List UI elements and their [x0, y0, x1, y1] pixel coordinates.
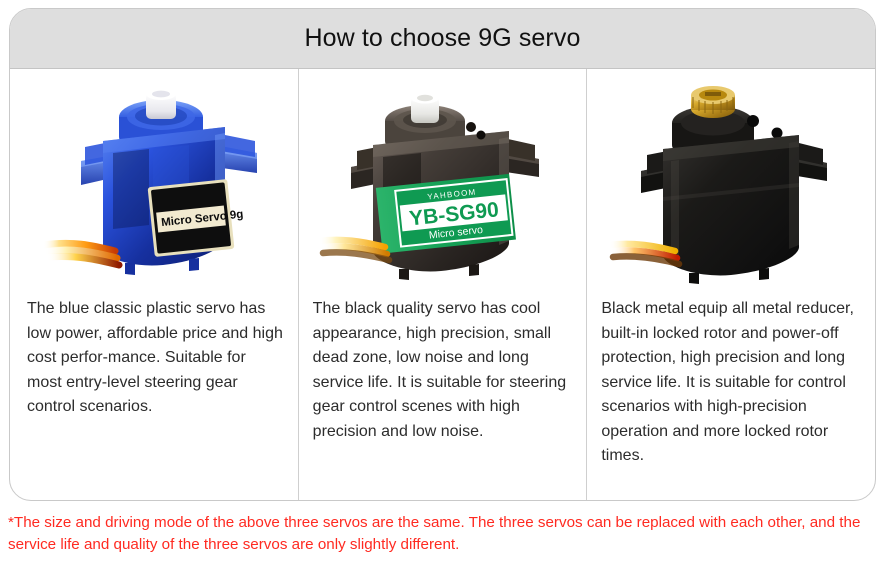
servo-comparison-card: How to choose 9G servo — [9, 8, 876, 501]
servo-column-black-metal: Black metal equip all metal reducer, bui… — [586, 69, 875, 500]
black-sg90-servo-illustration: YAHBOOM YB-SG90 Micro servo — [313, 75, 573, 285]
card-header: How to choose 9G servo — [10, 9, 875, 69]
blue-servo-description: The blue classic plastic servo has low p… — [10, 291, 298, 420]
black-metal-servo-description: Black metal equip all metal reducer, bui… — [587, 291, 875, 469]
black-translucent-yb-sg90-servo-photo: YAHBOOM YB-SG90 Micro servo — [299, 69, 587, 291]
footnote-note: *The size and driving mode of the above … — [8, 512, 878, 556]
servo-column-black-quality: YAHBOOM YB-SG90 Micro servo The black — [298, 69, 587, 500]
page-title: How to choose 9G servo — [305, 26, 581, 51]
infographic-page: How to choose 9G servo — [0, 0, 885, 568]
black-quality-servo-description: The black quality servo has cool appeara… — [299, 291, 587, 444]
servo-columns: Micro Servo 9g The blue classic plastic … — [10, 69, 875, 500]
black-metal-gear-servo-photo — [587, 69, 875, 291]
black-metal-servo-illustration — [601, 75, 861, 285]
brass-gear-icon — [691, 86, 735, 118]
blue-plastic-micro-servo-photo: Micro Servo 9g — [10, 69, 298, 291]
servo-column-blue-plastic: Micro Servo 9g The blue classic plastic … — [10, 69, 298, 500]
blue-servo-illustration: Micro Servo 9g — [29, 75, 279, 285]
